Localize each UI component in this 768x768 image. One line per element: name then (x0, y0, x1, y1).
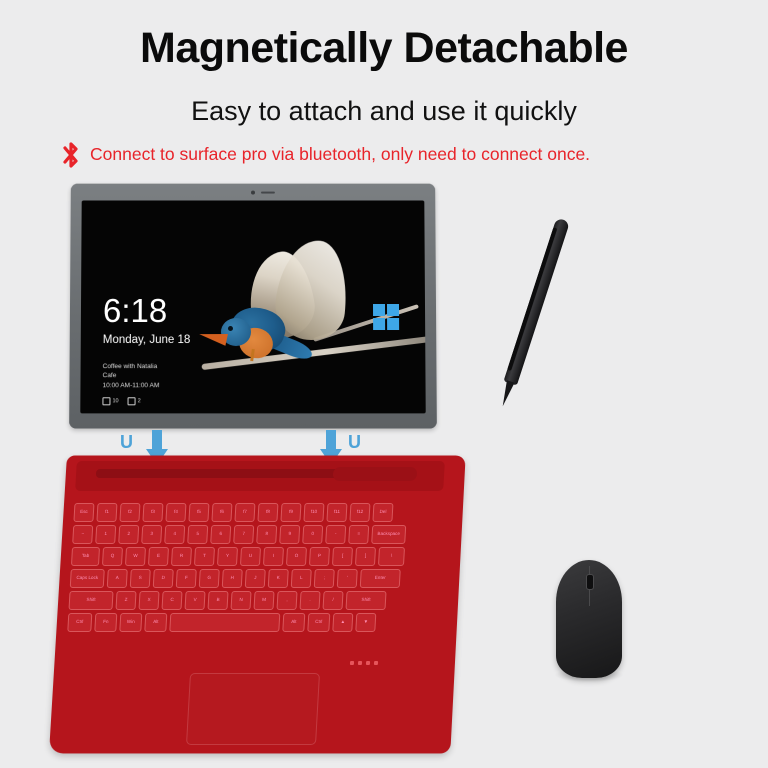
key-alt[interactable]: Alt (282, 613, 305, 632)
key-0[interactable]: 0 (302, 525, 323, 544)
appointment-place: Cafe (103, 372, 191, 381)
key-row: Caps LockASDFGHJKL;'Enter (70, 569, 401, 588)
key-row: TabQWERTYUIOP[]\ (71, 547, 405, 566)
key-u[interactable]: U (240, 547, 261, 566)
key--[interactable]: ~ (72, 525, 93, 544)
key-y[interactable]: Y (217, 547, 238, 566)
key-f7[interactable]: f7 (234, 503, 255, 522)
tablet-screen: 6:18 Monday, June 18 Coffee with Natalia… (80, 200, 425, 413)
key--[interactable]: - (325, 525, 346, 544)
pen-storage-slot (333, 467, 418, 481)
key-space[interactable] (169, 613, 280, 632)
key-b[interactable]: B (207, 591, 228, 610)
key-a[interactable]: A (107, 569, 128, 588)
lockscreen-appointment: Coffee with Natalia Cafe 10:00 AM-11:00 … (103, 362, 191, 390)
key-f5[interactable]: f5 (188, 503, 209, 522)
key-f3[interactable]: f3 (142, 503, 163, 522)
lockscreen-info: 6:18 Monday, June 18 Coffee with Natalia… (103, 294, 191, 390)
arrow-u-mark-left: U (120, 432, 133, 453)
key-fn[interactable]: Fn (94, 613, 117, 632)
key-9[interactable]: 9 (279, 525, 300, 544)
mouse-scroll-wheel (586, 574, 594, 590)
key--[interactable]: / (322, 591, 343, 610)
key-row: Escf1f2f3f4f5f6f7f8f9f10f11f12Del (73, 503, 393, 522)
key--[interactable]: ; (314, 569, 335, 588)
key-z[interactable]: Z (115, 591, 136, 610)
arrow-u-mark-right: U (348, 432, 361, 453)
key-k[interactable]: K (268, 569, 289, 588)
keyboard-indicator-dots (350, 661, 378, 665)
key-esc[interactable]: Esc (73, 503, 94, 522)
key-row: ShiftZXCVBNM,./Shift (68, 591, 386, 610)
key-q[interactable]: Q (102, 547, 123, 566)
key-2[interactable]: 2 (118, 525, 139, 544)
key--[interactable]: . (299, 591, 320, 610)
touchpad (186, 673, 320, 745)
appointment-title: Coffee with Natalia (103, 362, 191, 371)
page-title: Magnetically Detachable (0, 24, 768, 73)
indicator-dot (366, 661, 370, 665)
key-row: ~1234567890-=Backspace (72, 525, 406, 544)
windows-logo-icon (373, 304, 399, 330)
lockscreen-status-icons: 10 2 (102, 397, 140, 405)
key--[interactable]: [ (332, 547, 353, 566)
key-4[interactable]: 4 (164, 525, 185, 544)
key-tab[interactable]: Tab (71, 547, 100, 566)
page-subtitle: Easy to attach and use it quickly (0, 96, 768, 127)
key-ctrl[interactable]: Ctrl (67, 613, 92, 632)
key-row: CtrlFnWinAltAltCtrl▲▼ (67, 613, 376, 632)
indicator-dot (374, 661, 378, 665)
key-r[interactable]: R (171, 547, 192, 566)
key-f6[interactable]: f6 (211, 503, 232, 522)
key--[interactable]: \ (378, 547, 405, 566)
key-f2[interactable]: f2 (119, 503, 140, 522)
key-ctrl[interactable]: Ctrl (307, 613, 330, 632)
bluetooth-note-text: Connect to surface pro via bluetooth, on… (90, 146, 590, 164)
front-camera-icon (251, 191, 255, 195)
calendar-count: 2 (138, 398, 141, 404)
keyboard-keys: Escf1f2f3f4f5f6f7f8f9f10f11f12Del~123456… (66, 503, 451, 663)
lockscreen-time: 6:18 (103, 294, 191, 327)
key--[interactable]: ] (355, 547, 376, 566)
key--[interactable]: ' (337, 569, 358, 588)
surface-tablet: 6:18 Monday, June 18 Coffee with Natalia… (69, 184, 437, 429)
key-t[interactable]: T (194, 547, 215, 566)
key-i[interactable]: I (263, 547, 284, 566)
mail-icon: 10 (102, 397, 118, 405)
key--[interactable]: = (348, 525, 369, 544)
key-f10[interactable]: f10 (303, 503, 324, 522)
pen-flat-edge (507, 227, 557, 371)
key-h[interactable]: H (222, 569, 243, 588)
key--[interactable]: ▼ (355, 613, 376, 632)
key-shift[interactable]: Shift (345, 591, 386, 610)
key-f9[interactable]: f9 (280, 503, 301, 522)
key-alt[interactable]: Alt (144, 613, 167, 632)
bird-eye (228, 326, 233, 331)
surface-pen (496, 218, 570, 409)
key-v[interactable]: V (184, 591, 205, 610)
key-win[interactable]: Win (119, 613, 142, 632)
key-caps-lock[interactable]: Caps Lock (70, 569, 105, 588)
key-8[interactable]: 8 (256, 525, 277, 544)
key--[interactable]: , (276, 591, 297, 610)
key-6[interactable]: 6 (210, 525, 231, 544)
key-f12[interactable]: f12 (349, 503, 370, 522)
key-del[interactable]: Del (372, 503, 393, 522)
key-shift[interactable]: Shift (68, 591, 113, 610)
indicator-dot (350, 661, 354, 665)
appointment-time: 10:00 AM-11:00 AM (103, 381, 191, 390)
wireless-mouse (556, 560, 622, 678)
key-g[interactable]: G (199, 569, 220, 588)
key-o[interactable]: O (286, 547, 307, 566)
key-f1[interactable]: f1 (96, 503, 117, 522)
key-s[interactable]: S (130, 569, 151, 588)
key-m[interactable]: M (253, 591, 274, 610)
key-f8[interactable]: f8 (257, 503, 278, 522)
key-n[interactable]: N (230, 591, 251, 610)
key-p[interactable]: P (309, 547, 330, 566)
sensor-slot (261, 192, 275, 194)
pen-tip (499, 380, 515, 407)
calendar-icon: 2 (128, 397, 141, 405)
lockscreen-date: Monday, June 18 (103, 334, 191, 346)
key-enter[interactable]: Enter (360, 569, 401, 588)
key-f4[interactable]: f4 (165, 503, 186, 522)
detachable-keyboard-cover: Escf1f2f3f4f5f6f7f8f9f10f11f12Del~123456… (58, 455, 458, 753)
bluetooth-icon (60, 140, 82, 170)
indicator-dot (358, 661, 362, 665)
key-w[interactable]: W (125, 547, 146, 566)
key-f11[interactable]: f11 (326, 503, 347, 522)
key-f[interactable]: F (176, 569, 197, 588)
key-j[interactable]: J (245, 569, 266, 588)
key-3[interactable]: 3 (141, 525, 162, 544)
mail-count: 10 (112, 398, 118, 404)
key-c[interactable]: C (161, 591, 182, 610)
key-7[interactable]: 7 (233, 525, 254, 544)
key-d[interactable]: D (153, 569, 174, 588)
bluetooth-note: Connect to surface pro via bluetooth, on… (60, 141, 760, 169)
key-x[interactable]: X (138, 591, 159, 610)
key--[interactable]: ▲ (332, 613, 353, 632)
key-e[interactable]: E (148, 547, 169, 566)
key-1[interactable]: 1 (95, 525, 116, 544)
key-backspace[interactable]: Backspace (371, 525, 406, 544)
key-l[interactable]: L (291, 569, 312, 588)
product-image-canvas: Magnetically Detachable Easy to attach a… (0, 0, 768, 768)
key-5[interactable]: 5 (187, 525, 208, 544)
